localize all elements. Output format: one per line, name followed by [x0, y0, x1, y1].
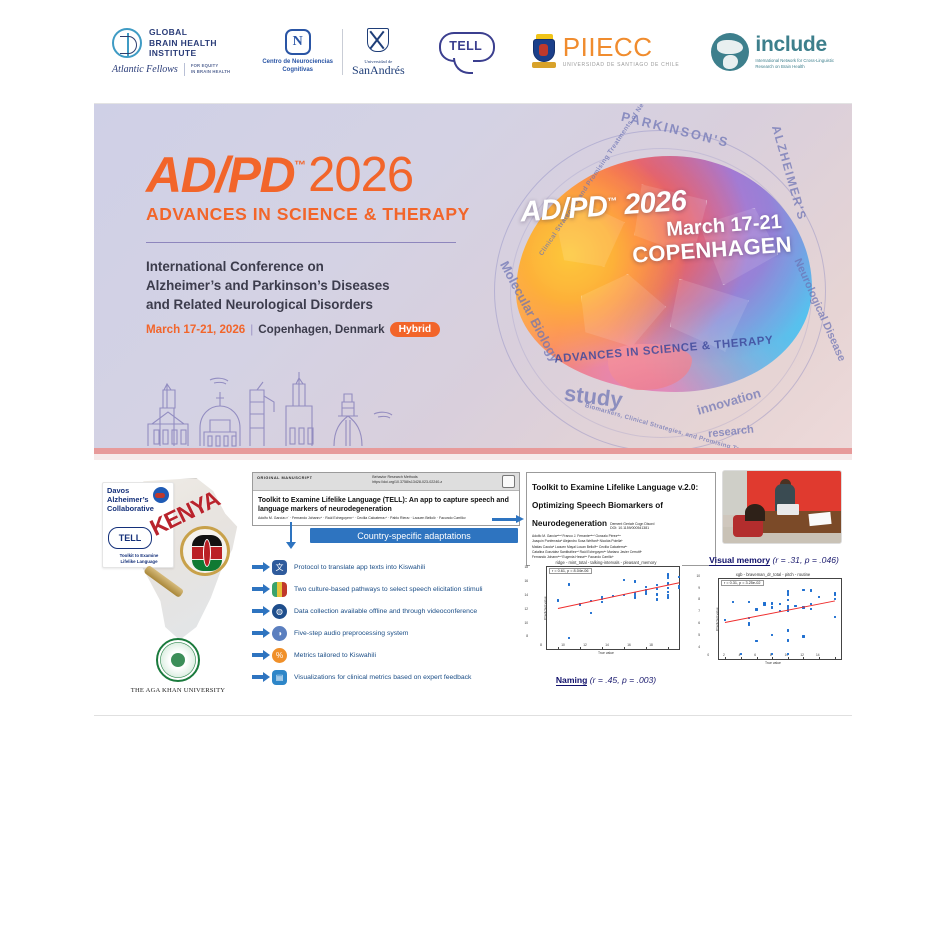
results-column: Toolkit to Examine Lifelike Language v.2… [526, 470, 846, 712]
divider [342, 29, 343, 75]
data-point [771, 606, 773, 608]
data-point [810, 589, 812, 591]
data-point [623, 579, 625, 581]
y-tick-label: 7 [698, 609, 700, 613]
divider [146, 242, 456, 243]
tell-badge: TELL [108, 527, 152, 549]
arrow-right-icon [252, 650, 272, 660]
gbhi-line1: GLOBAL [149, 27, 217, 37]
chart-annotation: r = 0.61, p = 8.04e-06 [549, 568, 592, 574]
x-tick-label: 0 [707, 653, 709, 657]
visual-memory-scatter-plot: xgb - braveman_dr_total - pitch - routin… [702, 572, 844, 676]
chart-axes: r = 0.31, p = 3.25e-02 Predicted value [718, 578, 842, 660]
arrow-right-icon [252, 628, 272, 638]
aga-khan-university-logo: THE AGA KHAN UNIVERSITY [130, 638, 226, 694]
data-point [568, 583, 570, 585]
conference-line-3: and Related Neurological Disorders [146, 295, 476, 314]
tell-speech-brain-icon: TELL [437, 28, 499, 76]
arrow-right-icon [492, 515, 526, 524]
data-point [557, 599, 559, 601]
banner-text-block: AD/PD ™ 2026 ADVANCES IN SCIENCE & THERA… [146, 152, 476, 337]
data-point [779, 603, 781, 605]
data-point [678, 587, 680, 589]
data-point [818, 596, 820, 598]
x-tick-label: 14 [605, 643, 609, 647]
data-point [794, 605, 796, 607]
adpd-trademark: ™ [294, 158, 306, 172]
separator: | [250, 323, 253, 336]
chart-ylabel: Predicted value [544, 596, 548, 619]
cnc-mark-letter: N [293, 34, 303, 50]
brain-overlay-text: AD/PD™ 2026 March 17-21 COPENHAGEN [520, 186, 820, 267]
globe-icon [153, 487, 169, 503]
adpd-brand: AD/PD [146, 152, 294, 198]
gbhi-emblem-icon [112, 28, 142, 58]
audio-wave-icon: ◑ [272, 626, 287, 641]
include-sub2: Research on Brain Health [755, 64, 834, 70]
data-point [802, 635, 804, 637]
brain-tm: ™ [607, 196, 617, 208]
data-point [667, 577, 669, 579]
toolkit-v2-doi: DOI: 10.1159/000541381 [610, 526, 654, 531]
crossmark-badge-icon [502, 475, 515, 488]
people-chart-icon [272, 582, 287, 597]
list-item: ◍ Data collection available offline and … [252, 600, 520, 622]
x-tick-mark [819, 657, 820, 660]
adaptation-text: Five-step audio preprocessing system [294, 630, 408, 637]
adaptations-list: 文 Protocol to translate app texts into K… [252, 556, 520, 688]
y-tick-label: 6 [698, 621, 700, 625]
cnc-line1: Centro de Neurociencias [262, 59, 333, 67]
adaptation-text: Protocol to translate app texts into Kis… [294, 564, 425, 571]
gbhi-tagline: Atlantic Fellows [112, 64, 178, 75]
arrow-right-icon [252, 672, 272, 682]
adpd-year: 2026 [308, 152, 413, 199]
visual-memory-caption: Visual memory (r = .31, p = .046) [694, 555, 854, 565]
visualization-chart-icon: ▤ [272, 670, 287, 685]
aku-emblem-icon [156, 638, 200, 682]
data-point [656, 594, 658, 596]
data-point [755, 608, 757, 610]
udesa-title: SanAndrés [352, 64, 405, 76]
partner-logo-bar: GLOBAL BRAIN HEALTH INSTITUTE Atlantic F… [94, 0, 852, 104]
x-tick-label: 10 [561, 643, 565, 647]
gbhi-line2: BRAIN HEALTH [149, 38, 217, 48]
conference-location: Copenhagen, Denmark [258, 323, 384, 336]
x-tick-label: 12 [583, 643, 587, 647]
data-point [834, 592, 836, 594]
piiecc-subtitle: UNIVERSIDAD DE SANTIAGO DE CHILE [563, 62, 680, 68]
logo-cnc-and-udesa: N Centro de Neurociencias Cognitivas Uni… [262, 27, 404, 76]
data-point [667, 596, 669, 598]
chart-xlabel: True value [702, 661, 844, 665]
adaptation-text: Visualizations for clinical metrics base… [294, 674, 471, 681]
chart-title: xgb - braveman_dr_total - pitch - routin… [702, 572, 844, 577]
translate-icon: 文 [272, 560, 287, 575]
brain-artwork: Clinical Strategies, and Promising Treat… [468, 108, 852, 458]
country-specific-adaptations-banner: Country-specific adaptations [310, 528, 518, 543]
poster-content-panel: Davos Alzheimer’s Collaborative TELL Too… [94, 466, 852, 716]
y-tick-label: 14 [524, 593, 528, 597]
x-tick-label: 2 [723, 653, 725, 657]
scatter-plots-group: ridge - mint_total - talking-intervals -… [526, 550, 846, 710]
regression-line [558, 582, 679, 609]
data-point [732, 601, 734, 603]
data-point [645, 592, 647, 594]
arrow-right-icon [252, 606, 272, 616]
adaptation-text: Data collection available offline and th… [294, 608, 477, 615]
manuscript-title: Toolkit to Examine Lifelike Language (TE… [253, 491, 519, 516]
kenya-flag-icon [192, 535, 222, 571]
gbhi-sub2: IN BRAIN HEALTH [191, 69, 230, 75]
data-point [748, 601, 750, 603]
logo-include: include International Network for Cross-… [711, 33, 834, 71]
udesa-crest-icon [363, 27, 393, 57]
x-tick-mark [741, 657, 742, 660]
tell-sub-line2: Lifelike Language [107, 559, 171, 565]
network-offline-icon: ◍ [272, 604, 287, 619]
x-tick-label: 6 [754, 653, 756, 657]
data-point [787, 590, 789, 592]
original-manuscript-card: ORIGINAL MANUSCRIPT Behavior Research Me… [252, 472, 520, 526]
tell-word: TELL [437, 39, 495, 53]
chart-axes: r = 0.61, p = 8.04e-06 Predicted value [546, 566, 680, 650]
caption-stats: (r = .31, p = .046) [772, 555, 838, 565]
chart-title: ridge - mint_total - talking-intervals -… [530, 560, 682, 565]
kenya-map-column: Davos Alzheimer’s Collaborative TELL Too… [102, 472, 247, 712]
data-point [601, 601, 603, 603]
conference-line-1: International Conference on [146, 257, 476, 276]
x-tick-label: 12 [800, 653, 804, 657]
list-item: ◑ Five-step audio preprocessing system [252, 622, 520, 644]
data-point [763, 602, 765, 604]
adpd-conference-banner: Clinical Strategies, and Promising Treat… [94, 104, 852, 460]
manuscript-and-adaptations-column: ORIGINAL MANUSCRIPT Behavior Research Me… [252, 472, 520, 526]
x-tick-mark [580, 647, 581, 650]
data-point [771, 602, 773, 604]
include-word: include [755, 34, 834, 55]
hybrid-badge: Hybrid [390, 322, 441, 337]
adpd-tagline: ADVANCES IN SCIENCE & THERAPY [146, 204, 476, 225]
conference-dates: March 17-21, 2026 [146, 323, 245, 336]
x-tick-mark [757, 657, 758, 660]
logo-global-brain-health-institute: GLOBAL BRAIN HEALTH INSTITUTE Atlantic F… [112, 27, 230, 75]
x-tick-mark [772, 657, 773, 660]
naming-scatter-plot: ridge - mint_total - talking-intervals -… [530, 560, 682, 668]
flow-arrow-line [290, 522, 292, 544]
y-axis-ticks: 45678910 [693, 572, 701, 652]
data-point [787, 629, 789, 631]
poster-page: GLOBAL BRAIN HEALTH INSTITUTE Atlantic F… [0, 0, 945, 945]
data-point [667, 591, 669, 593]
logo-piiecc: PIIECC UNIVERSIDAD DE SANTIAGO DE CHILE [531, 34, 680, 70]
x-tick-mark [624, 647, 625, 650]
copenhagen-skyline-illustration [138, 362, 438, 448]
y-tick-label: 18 [524, 565, 528, 569]
data-point [656, 598, 658, 600]
y-tick-label: 5 [698, 633, 700, 637]
list-item: Two culture-based pathways to select spe… [252, 578, 520, 600]
y-tick-label: 16 [524, 579, 528, 583]
adaptation-text: Two culture-based pathways to select spe… [294, 586, 483, 593]
data-point [771, 634, 773, 636]
arrow-right-icon [252, 584, 272, 594]
data-point [787, 605, 789, 607]
aku-name: THE AGA KHAN UNIVERSITY [130, 687, 226, 694]
logo-universidad-de-san-andres: Universidad de SanAndrés [352, 27, 405, 76]
data-point [678, 576, 680, 578]
data-point [634, 596, 636, 598]
x-tick-mark [803, 657, 804, 660]
x-tick-mark [668, 647, 669, 650]
x-tick-mark [725, 657, 726, 660]
list-item: 文 Protocol to translate app texts into K… [252, 556, 520, 578]
chart-ylabel: Predicted value [716, 607, 720, 630]
data-point [787, 639, 789, 641]
gbhi-line3: INSTITUTE [149, 48, 217, 58]
caption-label: Visual memory [709, 555, 770, 566]
conference-line-2: Alzheimer’s and Parkinson’s Diseases [146, 276, 476, 295]
y-tick-label: 8 [698, 597, 700, 601]
x-tick-mark [788, 657, 789, 660]
brain-year: 2026 [623, 185, 687, 221]
list-item: % Metrics tailored to Kiswahili [252, 644, 520, 666]
data-point [755, 640, 757, 642]
banner-bottom-band [94, 454, 852, 460]
flow-arrow-head-icon [286, 542, 296, 549]
data-point [667, 587, 669, 589]
x-tick-mark [835, 657, 836, 660]
y-tick-label: 9 [698, 586, 700, 590]
list-item: ▤ Visualizations for clinical metrics ba… [252, 666, 520, 688]
data-point [802, 589, 804, 591]
naming-caption: Naming (r = .45, p = .003) [526, 675, 686, 685]
metrics-percent-icon: % [272, 648, 287, 663]
caption-label: Naming [556, 675, 588, 686]
y-tick-label: 4 [698, 645, 700, 649]
data-point [810, 608, 812, 610]
globe-icon [711, 33, 749, 71]
x-tick-label: 8 [540, 643, 542, 647]
y-tick-label: 10 [696, 574, 700, 578]
divider [184, 63, 185, 76]
x-tick-mark [602, 647, 603, 650]
piiecc-word: PIIECC [563, 35, 680, 60]
manuscript-doi: https://doi.org/10.3758/s13428-023-02240… [372, 480, 442, 485]
manuscript-type-label: ORIGINAL MANUSCRIPT [257, 475, 312, 480]
x-tick-label: 18 [649, 643, 653, 647]
logo-centro-de-neurociencias-cognitivas: N Centro de Neurociencias Cognitivas [262, 29, 333, 74]
y-axis-ticks: 81012141618 [521, 560, 529, 642]
brain-brand: AD/PD [519, 190, 608, 228]
y-tick-label: 12 [524, 607, 528, 611]
y-tick-label: 10 [524, 621, 528, 625]
caption-stats: (r = .45, p = .003) [590, 675, 656, 685]
data-point [834, 616, 836, 618]
x-tick-mark [558, 647, 559, 650]
logo-tell: TELL [437, 28, 499, 76]
x-tick-label: 16 [627, 643, 631, 647]
cnc-line2: Cognitivas [262, 67, 333, 75]
x-tick-mark [646, 647, 647, 650]
data-point [748, 623, 750, 625]
manuscript-authors: Adolfo M. García¹²³´ · Fernando Johann²⁴… [253, 516, 519, 525]
chart-annotation: r = 0.31, p = 3.25e-02 [721, 580, 764, 586]
usach-crest-icon [531, 34, 558, 70]
data-point [568, 637, 570, 639]
adaptation-text: Metrics tailored to Kiswahili [294, 652, 376, 659]
data-collection-session-photo [722, 470, 842, 544]
data-point [787, 593, 789, 595]
cnc-emblem-icon: N [285, 29, 311, 55]
data-point [634, 580, 636, 582]
arrow-right-icon [252, 562, 272, 572]
include-sub1: International Network for Cross-Linguist… [755, 58, 834, 64]
y-tick-label: 8 [526, 634, 528, 638]
magnifier-icon [180, 526, 230, 576]
data-point [667, 574, 669, 576]
x-tick-label: 14 [816, 653, 820, 657]
data-point [787, 599, 789, 601]
chart-xlabel: True value [530, 651, 682, 655]
data-point [590, 612, 592, 614]
